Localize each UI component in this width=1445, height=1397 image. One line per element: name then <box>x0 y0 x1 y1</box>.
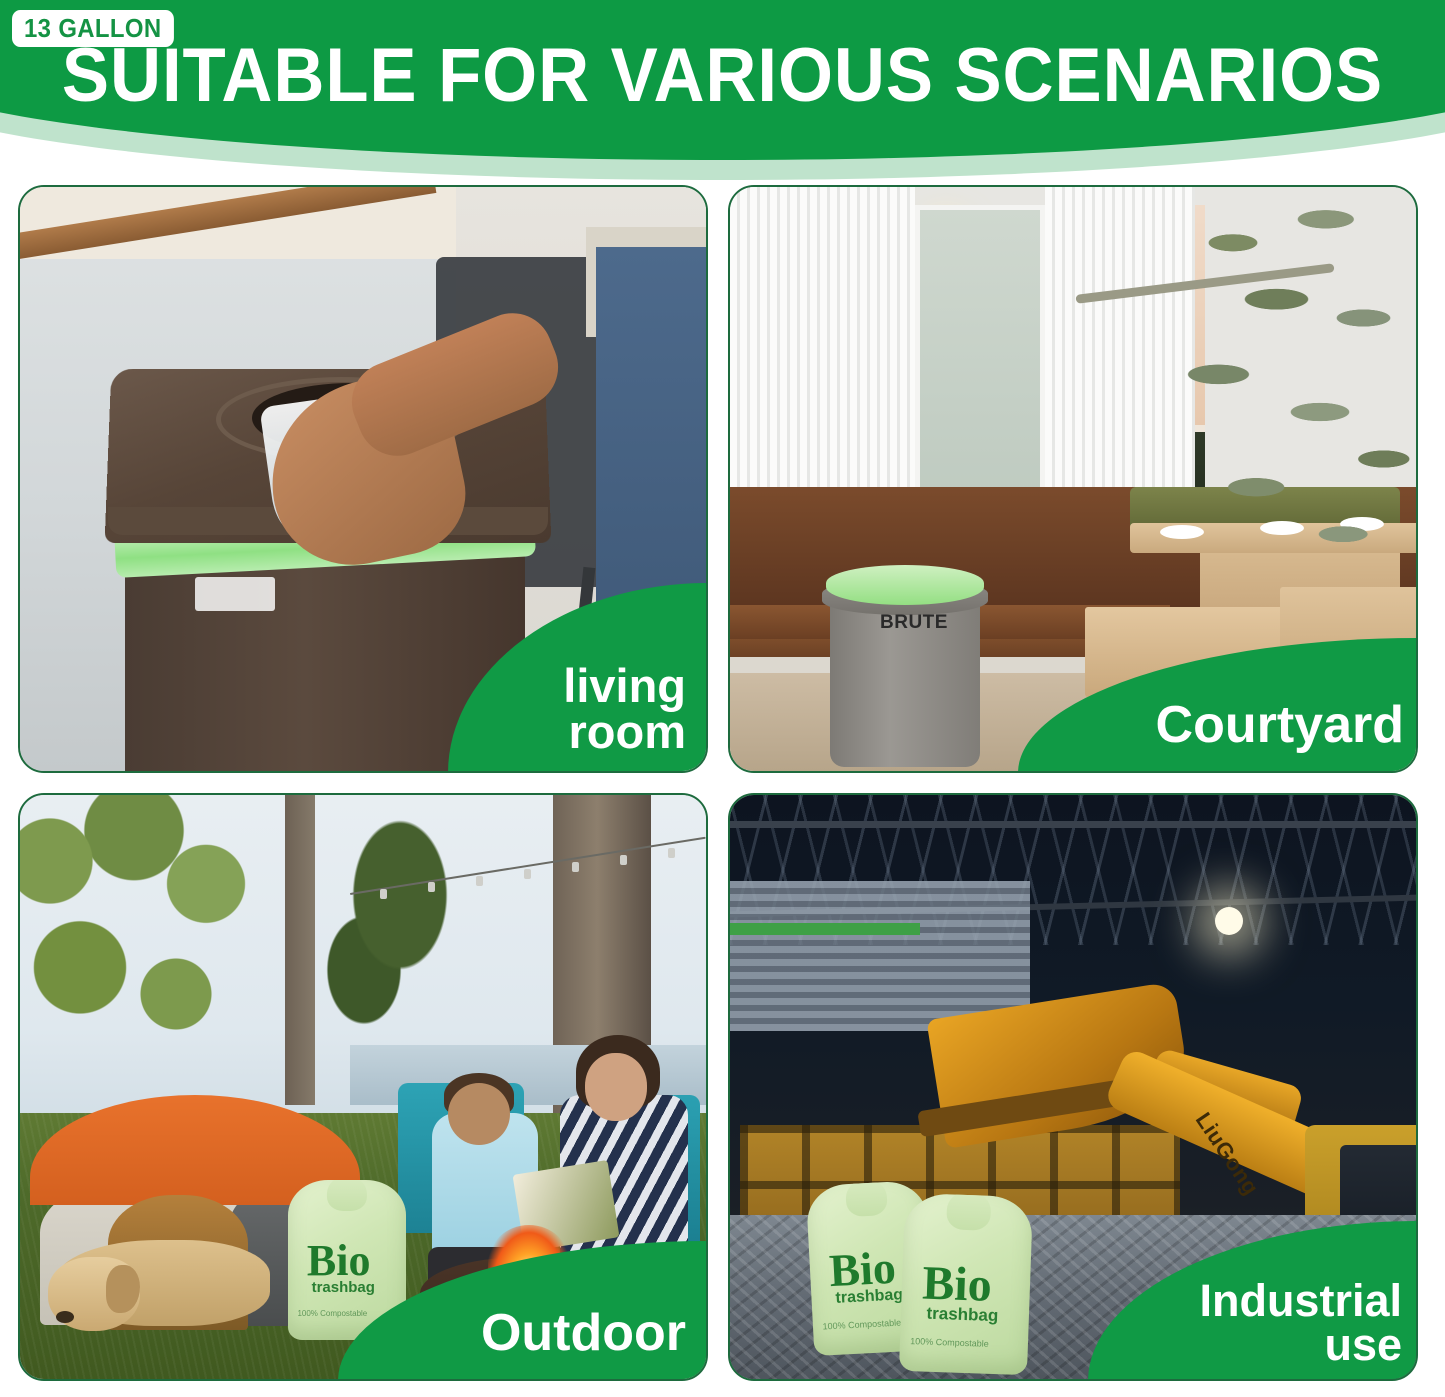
string-light-bulb <box>476 876 483 886</box>
header-banner: SUITABLE FOR VARIOUS SCENARIOS <box>0 0 1445 182</box>
panel-label-text: Outdoor <box>481 1308 708 1381</box>
brute-brand-text: BRUTE <box>880 612 948 634</box>
panel-label-text: Industrial use <box>1199 1279 1418 1381</box>
bin-brand-sticker <box>195 577 275 611</box>
bio-sublabel-text: trashbag <box>312 1279 375 1296</box>
tree-trunk-middle <box>285 795 315 1105</box>
bio-trashbag-industrial-2: Bio trashbag 100% Compostable <box>899 1193 1033 1375</box>
child-head <box>448 1083 510 1145</box>
bio-fine-print: 100% Compostable <box>822 1318 901 1332</box>
scenario-panel-courtyard[interactable]: BRUTE Courtyard <box>728 185 1418 773</box>
product-infographic: SUITABLE FOR VARIOUS SCENARIOS 13 GALLON <box>0 0 1445 1397</box>
bio-sublabel-text: trashbag <box>835 1287 903 1309</box>
string-light-bulb <box>380 889 387 899</box>
bag-neck <box>327 1180 367 1211</box>
panel-label-text: living room <box>563 663 708 773</box>
bag-neck <box>946 1193 991 1231</box>
panel-label-text: Courtyard <box>1156 700 1418 773</box>
bio-logo-text: Bio <box>922 1261 993 1307</box>
bio-fine-print: 100% Compostable <box>910 1336 989 1349</box>
string-light-bulb <box>620 855 627 865</box>
bio-trashbag: Bio trashbag 100% Compostable <box>899 1193 1033 1375</box>
bag-neck <box>845 1180 888 1218</box>
string-light-bulb <box>428 882 435 892</box>
string-light-bulb <box>524 869 531 879</box>
string-light-bulb <box>668 848 675 858</box>
green-pipe <box>730 923 920 935</box>
compostable-bag-liner <box>826 565 984 605</box>
roof-beam-1 <box>730 821 1416 828</box>
string-light-bulb <box>572 862 579 872</box>
warehouse-lamp <box>1215 907 1243 935</box>
bio-logo-text: Bio <box>828 1246 897 1291</box>
string-lights <box>350 883 706 953</box>
capacity-badge: 13 GALLON <box>12 10 173 47</box>
scenario-panel-industrial-use[interactable]: LiuGong Bio trashbag 100% Compostable <box>728 793 1418 1381</box>
bio-fine-print: 100% Compostable <box>297 1309 367 1318</box>
dog-nose <box>56 1311 74 1323</box>
olive-tree <box>1146 187 1416 647</box>
bio-sublabel-text: trashbag <box>926 1304 998 1326</box>
scenario-panel-outdoor[interactable]: Bio trashbag 100% Compostable Outdoor <box>18 793 708 1381</box>
scenario-panel-living-room[interactable]: living room <box>18 185 708 773</box>
page-title: SUITABLE FOR VARIOUS SCENARIOS <box>51 38 1395 114</box>
adult-head <box>585 1053 647 1121</box>
scenario-grid: living room <box>18 185 1428 1381</box>
bio-logo-text: Bio <box>307 1241 371 1281</box>
